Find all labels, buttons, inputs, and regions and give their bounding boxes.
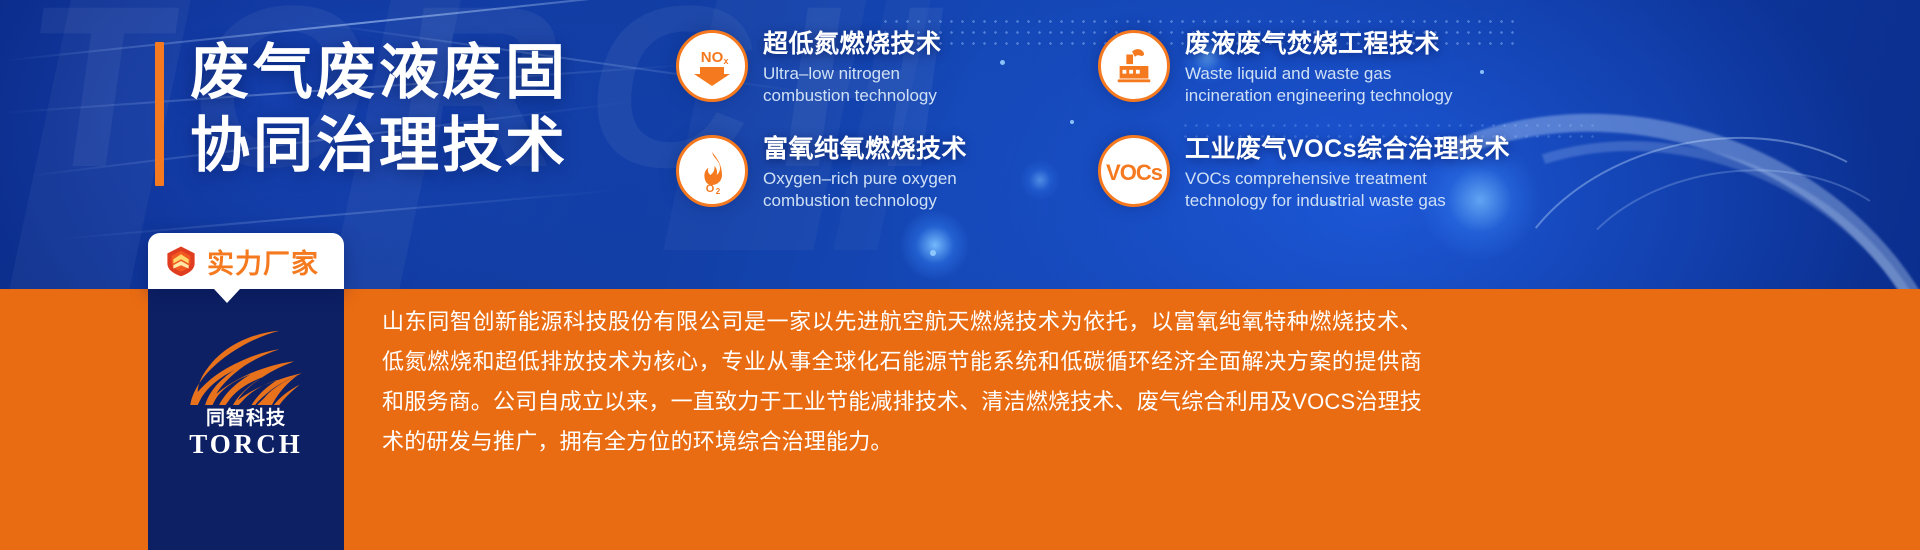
title-line-1: 废气废液废固 bbox=[190, 36, 568, 109]
svg-text:VOCs: VOCs bbox=[1106, 160, 1163, 185]
feature-title-cn: 废液废气焚烧工程技术 bbox=[1185, 29, 1452, 60]
feature-text: 工业废气VOCs综合治理技术 VOCs comprehensive treatm… bbox=[1185, 133, 1510, 212]
svg-text:2: 2 bbox=[716, 187, 721, 195]
feature-title-en: Oxygen–rich pure oxygen combustion techn… bbox=[763, 168, 967, 212]
badge-tail bbox=[214, 289, 240, 303]
shield-medal-icon bbox=[164, 244, 198, 278]
feature-item-nox[interactable]: NO x 超低氮燃烧技术 Ultra–low nitrogen combusti… bbox=[676, 28, 1068, 107]
svg-text:NO: NO bbox=[701, 49, 724, 66]
strength-manufacturer-badge[interactable]: 实力厂家 bbox=[148, 233, 344, 289]
spark-dot-3 bbox=[930, 250, 936, 256]
feature-text: 废液废气焚烧工程技术 Waste liquid and waste gas in… bbox=[1185, 28, 1452, 107]
feature-item-vocs[interactable]: VOCs 工业废气VOCs综合治理技术 VOCs comprehensive t… bbox=[1098, 133, 1886, 212]
feature-text: 超低氮燃烧技术 Ultra–low nitrogen combustion te… bbox=[763, 28, 942, 107]
feature-title-en: Ultra–low nitrogen combustion technology bbox=[763, 63, 942, 107]
feature-title-cn: 富氧纯氧燃烧技术 bbox=[763, 134, 967, 165]
nox-down-arrow-icon: NO x bbox=[676, 30, 748, 102]
svg-text:O: O bbox=[706, 183, 715, 195]
accent-bar bbox=[155, 42, 164, 186]
feature-grid: NO x 超低氮燃烧技术 Ultra–low nitrogen combusti… bbox=[676, 28, 1886, 212]
vocs-text-icon: VOCs bbox=[1098, 135, 1170, 207]
feature-title-en: Waste liquid and waste gas incineration … bbox=[1185, 63, 1452, 107]
logo-name-cn: 同智科技 bbox=[189, 403, 303, 430]
page-title: 废气废液废固 协同治理技术 bbox=[190, 36, 568, 186]
torch-flame-wing-icon bbox=[190, 327, 302, 405]
feature-item-oxygen[interactable]: O 2 富氧纯氧燃烧技术 Oxygen–rich pure oxygen com… bbox=[676, 133, 1068, 212]
badge-label: 实力厂家 bbox=[207, 242, 319, 281]
promotional-banner: TORCH 废气废液废固 协同治理技术 NO x bbox=[0, 0, 1920, 550]
company-description: 山东同智创新能源科技股份有限公司是一家以先进航空航天燃烧技术为依托，以富氧纯氧特… bbox=[382, 302, 1422, 462]
feature-title-cn: 超低氮燃烧技术 bbox=[763, 29, 942, 60]
company-logo-panel: 同智科技 TORCH bbox=[148, 289, 344, 550]
feature-item-incineration[interactable]: 废液废气焚烧工程技术 Waste liquid and waste gas in… bbox=[1098, 28, 1886, 107]
headline-block: 废气废液废固 协同治理技术 bbox=[155, 36, 568, 186]
factory-smokestack-icon bbox=[1098, 30, 1170, 102]
glow-orb-1 bbox=[900, 210, 970, 280]
svg-text:x: x bbox=[723, 56, 728, 66]
flame-o2-icon: O 2 bbox=[676, 135, 748, 207]
logo-name-en: TORCH bbox=[189, 429, 303, 460]
feature-title-en: VOCs comprehensive treatment technology … bbox=[1185, 168, 1510, 212]
title-line-2: 协同治理技术 bbox=[190, 109, 568, 182]
feature-text: 富氧纯氧燃烧技术 Oxygen–rich pure oxygen combust… bbox=[763, 133, 967, 212]
feature-title-cn: 工业废气VOCs综合治理技术 bbox=[1185, 134, 1510, 165]
logo-wordmark: 同智科技 TORCH bbox=[189, 403, 303, 460]
